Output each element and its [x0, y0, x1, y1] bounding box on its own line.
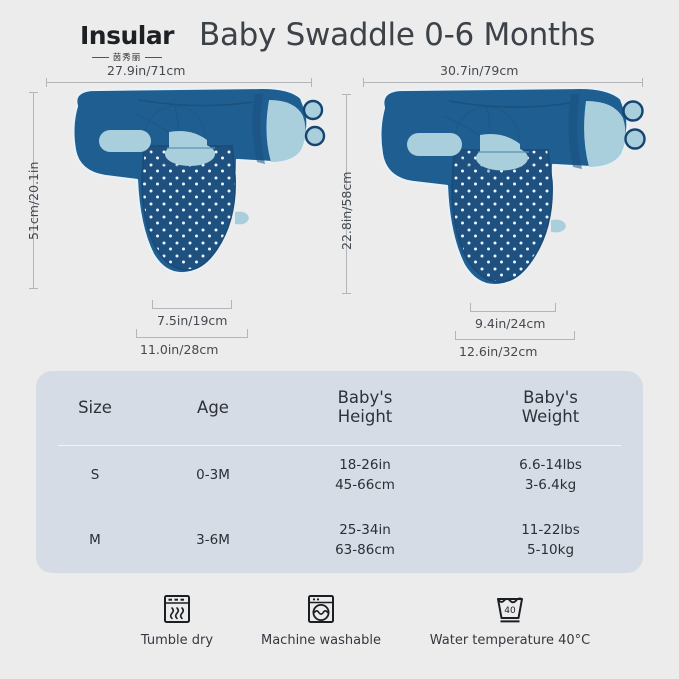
care-label-tumble-dry: Tumble dry — [141, 633, 213, 648]
dim-label-inner-m: 9.4in/24cm — [475, 316, 545, 331]
cell-weight-kg: 5-10kg — [458, 541, 643, 560]
dim-tick-s-outer-right — [247, 329, 248, 338]
table-row: S 0-3M 18-26in 45-66cm 6.6-14lbs 3-6.4kg — [36, 443, 643, 508]
cell-height: 25-34in 63-86cm — [272, 508, 458, 573]
dim-label-height-s: 51cm/20.1in — [26, 162, 41, 240]
dim-label-height-m: 22.8in/58cm — [339, 172, 354, 250]
column-header-height: Baby's Height — [272, 371, 458, 443]
logo-rule-left — [92, 57, 109, 58]
dim-tick-m-h-bottom — [342, 293, 351, 294]
cell-weight-lbs: 6.6-14lbs — [458, 456, 643, 475]
brand-logo: Insular 茵秀丽 — [64, 22, 190, 64]
care-item-water-temperature: 40 Water temperature 40°C — [420, 592, 600, 648]
logo-rule-right — [145, 57, 162, 58]
column-header-weight-line2: Weight — [458, 407, 643, 426]
care-label-water-temperature: Water temperature 40°C — [430, 633, 591, 648]
cell-height-cm: 63-86cm — [272, 541, 458, 560]
column-header-height-line1: Baby's — [272, 388, 458, 407]
column-header-age-line1: Age — [154, 398, 272, 417]
column-header-size-line1: Size — [36, 398, 154, 417]
cell-weight-kg: 3-6.4kg — [458, 476, 643, 495]
cell-size: M — [36, 508, 154, 573]
dim-tick-m-outer-left — [455, 331, 456, 340]
dim-tick-m-h-top — [342, 94, 351, 95]
cell-age: 0-3M — [154, 443, 272, 508]
dim-label-outer-s: 11.0in/28cm — [140, 342, 218, 357]
cell-height: 18-26in 45-66cm — [272, 443, 458, 508]
dim-label-outer-m: 12.6in/32cm — [459, 344, 537, 359]
column-header-weight-line1: Baby's — [458, 388, 643, 407]
dim-tick-s-w-right — [311, 78, 312, 87]
care-item-machine-washable: Machine washable — [255, 592, 387, 648]
care-item-tumble-dry: Tumble dry — [132, 592, 222, 648]
dim-line-inner-m — [470, 311, 556, 312]
page-header: Insular 茵秀丽 Baby Swaddle 0-6 Months — [0, 0, 679, 66]
table-row: M 3-6M 25-34in 63-86cm 11-22lbs 5-10kg — [36, 508, 643, 573]
dim-tick-s-inner-left — [152, 300, 153, 309]
dim-tick-m-inner-left — [470, 303, 471, 312]
dim-label-width-s: 27.9in/71cm — [107, 63, 185, 78]
dim-tick-m-w-left — [363, 78, 364, 87]
table-header-row: Size Age Baby's Height Baby's Weight — [36, 371, 643, 443]
brand-name: Insular — [80, 23, 174, 48]
brand-name-cn-wrap: 茵秀丽 — [92, 51, 163, 63]
care-label-machine-washable: Machine washable — [261, 633, 381, 648]
cell-age: 3-6M — [154, 508, 272, 573]
cell-weight-lbs: 11-22lbs — [458, 521, 643, 540]
dim-line-width-s — [46, 82, 312, 83]
column-header-weight: Baby's Weight — [458, 371, 643, 443]
dim-line-outer-m — [455, 339, 575, 340]
swaddle-illustration-s — [57, 84, 327, 309]
size-s-diagram — [57, 84, 327, 309]
column-header-age: Age — [154, 371, 272, 443]
dim-line-width-m — [363, 82, 643, 83]
dim-tick-m-w-right — [642, 78, 643, 87]
column-header-size: Size — [36, 371, 154, 443]
size-chart-panel: Size Age Baby's Height Baby's Weight S 0… — [36, 371, 643, 573]
dim-tick-s-h-top — [29, 92, 38, 93]
dim-tick-s-h-bottom — [29, 288, 38, 289]
dim-tick-s-w-left — [46, 78, 47, 87]
page-title: Baby Swaddle 0-6 Months — [199, 17, 595, 53]
table-header-divider — [58, 445, 621, 446]
swaddle-illustration-m — [362, 84, 647, 316]
cell-height-in: 18-26in — [272, 456, 458, 475]
cell-weight: 11-22lbs 5-10kg — [458, 508, 643, 573]
column-header-height-line2: Height — [272, 407, 458, 426]
cell-weight: 6.6-14lbs 3-6.4kg — [458, 443, 643, 508]
care-instructions: Tumble dry Machine washable 40 Water tem… — [0, 592, 679, 662]
tumble-dry-icon — [160, 592, 194, 626]
cell-height-in: 25-34in — [272, 521, 458, 540]
dim-line-outer-s — [136, 337, 248, 338]
cell-height-cm: 45-66cm — [272, 476, 458, 495]
dim-label-width-m: 30.7in/79cm — [440, 63, 518, 78]
size-chart-table: Size Age Baby's Height Baby's Weight S 0… — [36, 371, 643, 573]
dim-tick-s-inner-right — [231, 300, 232, 309]
dim-label-inner-s: 7.5in/19cm — [157, 313, 227, 328]
brand-name-cn: 茵秀丽 — [113, 51, 142, 63]
dim-tick-s-outer-left — [136, 329, 137, 338]
water-temperature-icon: 40 — [493, 592, 527, 626]
cell-size: S — [36, 443, 154, 508]
size-m-diagram — [362, 84, 647, 316]
dim-tick-m-inner-right — [555, 303, 556, 312]
machine-washable-icon — [304, 592, 338, 626]
dim-line-inner-s — [152, 308, 232, 309]
dim-tick-m-outer-right — [574, 331, 575, 340]
water-temperature-value: 40 — [504, 606, 516, 616]
